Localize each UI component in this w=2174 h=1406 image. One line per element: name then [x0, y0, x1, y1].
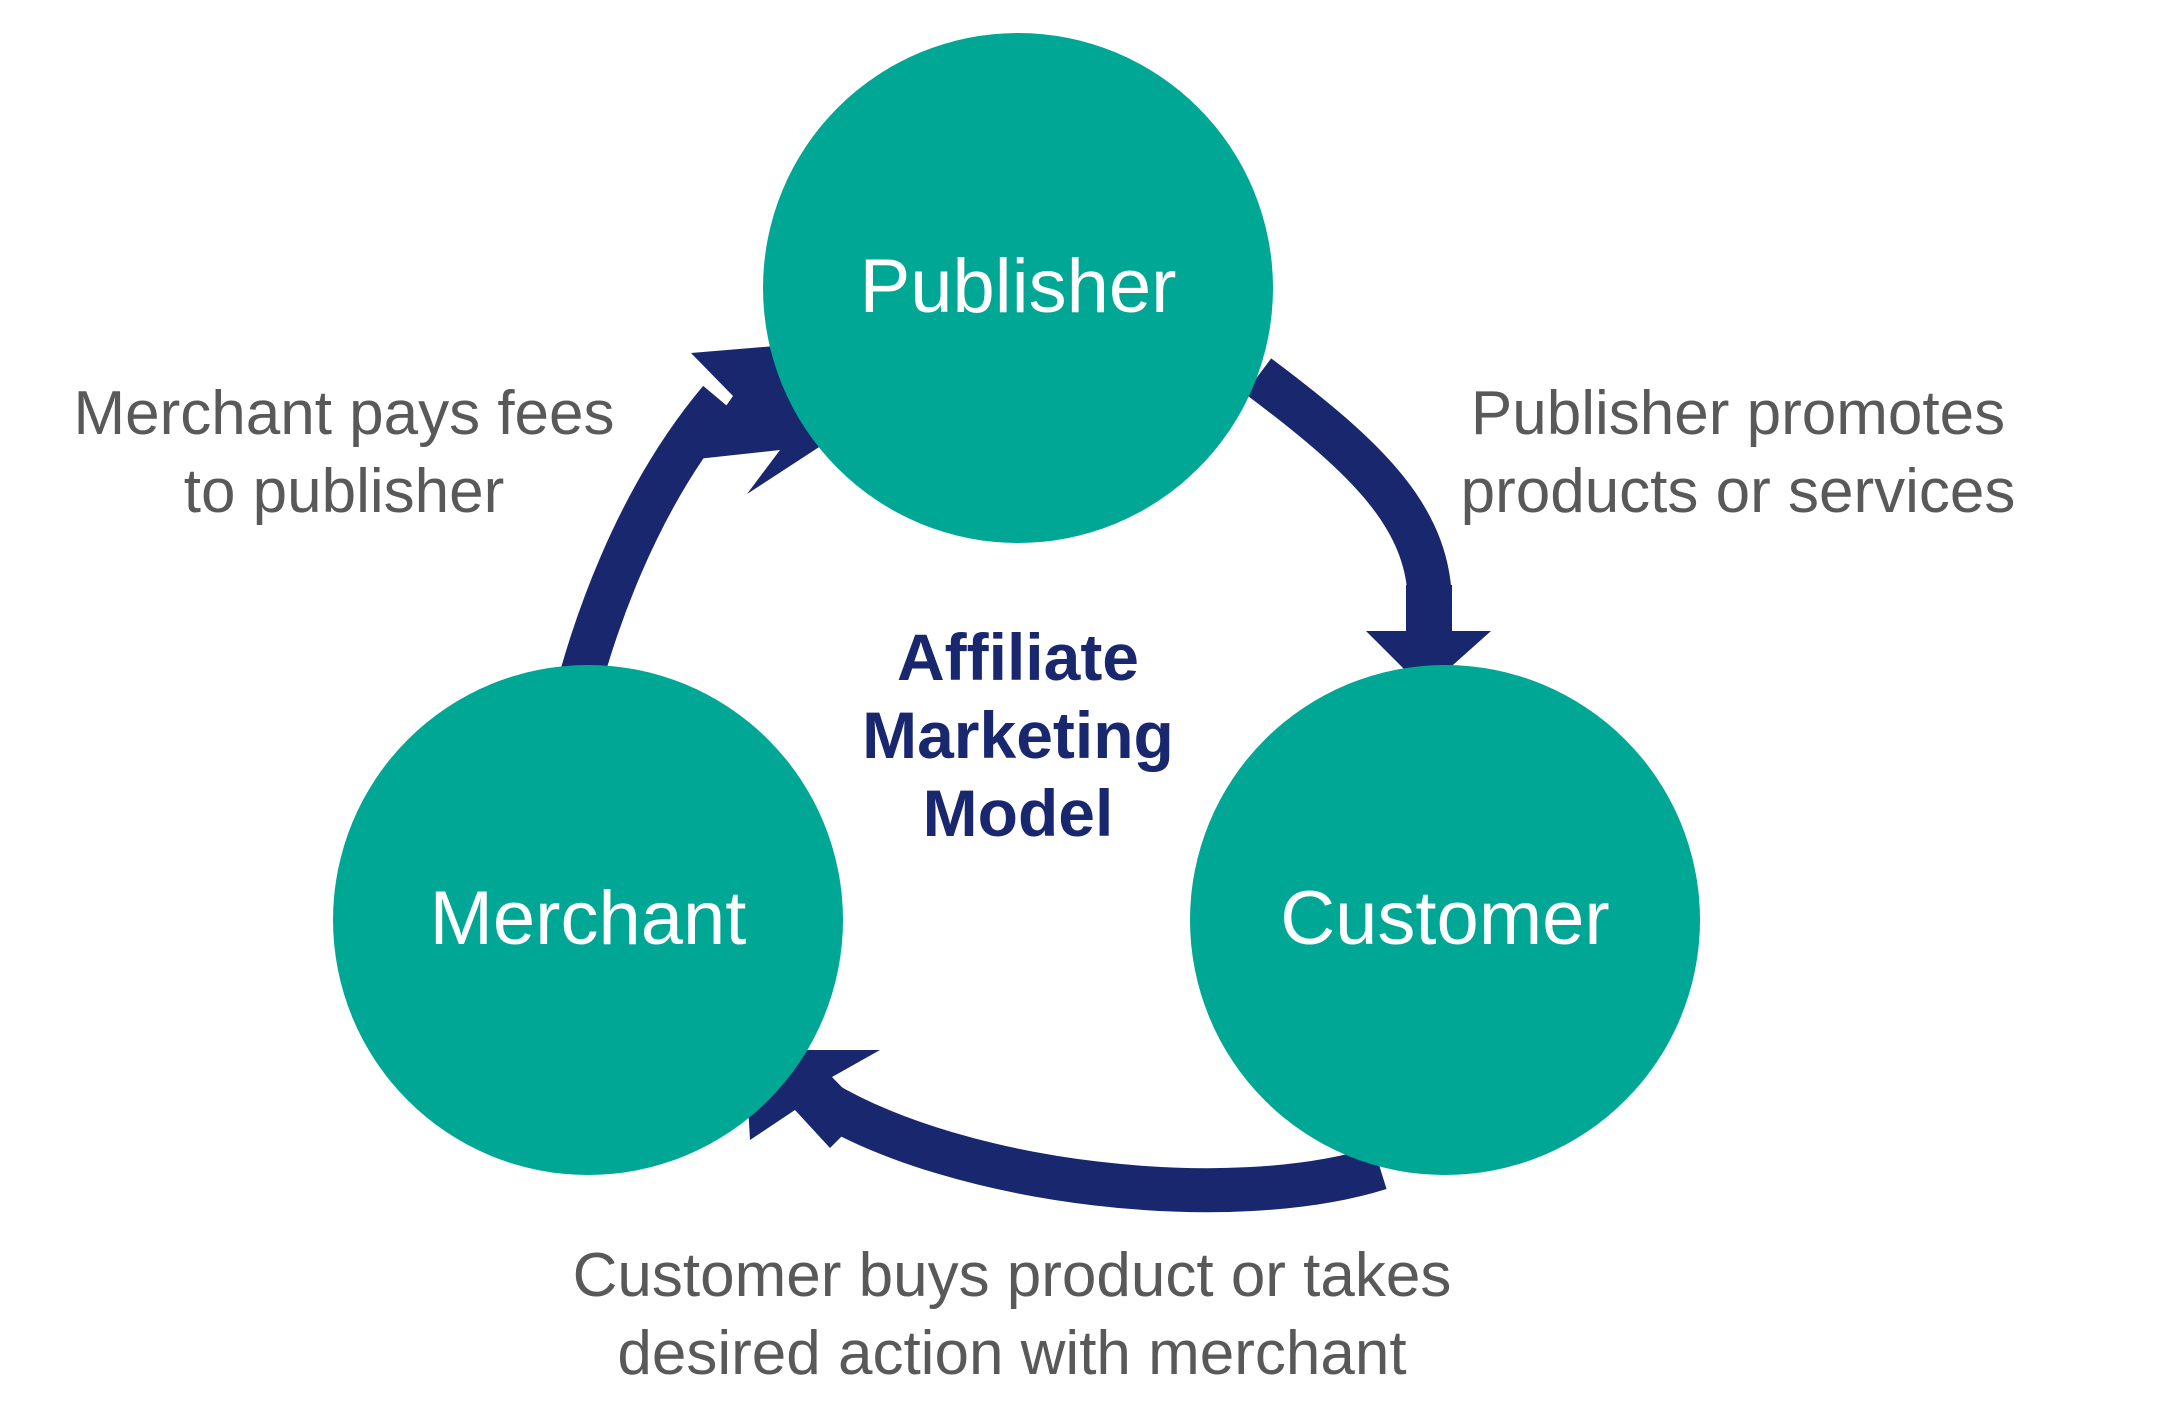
edge-label-merchant-to-publisher: Merchant pays fees to publisher: [73, 379, 614, 526]
edge-label-customer-to-merchant-line-1: Customer buys product or takes: [573, 1241, 1452, 1310]
center-title-line-3: Model: [923, 776, 1114, 850]
edge-label-publisher-to-customer-line-2: products or services: [1461, 457, 2016, 526]
center-title: Affiliate Marketing Model: [862, 620, 1174, 850]
node-customer[interactable]: Customer: [1190, 665, 1700, 1175]
node-merchant-label: Merchant: [430, 876, 747, 961]
node-publisher-label: Publisher: [860, 244, 1177, 329]
diagram-canvas: Publisher Customer Merchant Affiliate Ma…: [0, 0, 2174, 1406]
center-title-line-2: Marketing: [862, 698, 1174, 772]
edge-label-customer-to-merchant: Customer buys product or takes desired a…: [573, 1241, 1452, 1388]
edge-label-merchant-to-publisher-line-1: Merchant pays fees: [73, 379, 614, 448]
affiliate-marketing-cycle-diagram: Publisher Customer Merchant Affiliate Ma…: [0, 0, 2174, 1406]
edge-label-customer-to-merchant-line-2: desired action with merchant: [617, 1319, 1406, 1388]
edge-label-publisher-to-customer-line-1: Publisher promotes: [1471, 379, 2005, 448]
node-merchant[interactable]: Merchant: [333, 665, 843, 1175]
node-publisher[interactable]: Publisher: [763, 33, 1273, 543]
edge-label-publisher-to-customer: Publisher promotes products or services: [1461, 379, 2016, 526]
arrow-publisher-to-customer: [1258, 376, 1491, 690]
edge-label-merchant-to-publisher-line-2: to publisher: [184, 457, 505, 526]
arc-publisher-to-customer: [1258, 376, 1430, 610]
node-customer-label: Customer: [1280, 876, 1609, 961]
center-title-line-1: Affiliate: [897, 620, 1139, 694]
